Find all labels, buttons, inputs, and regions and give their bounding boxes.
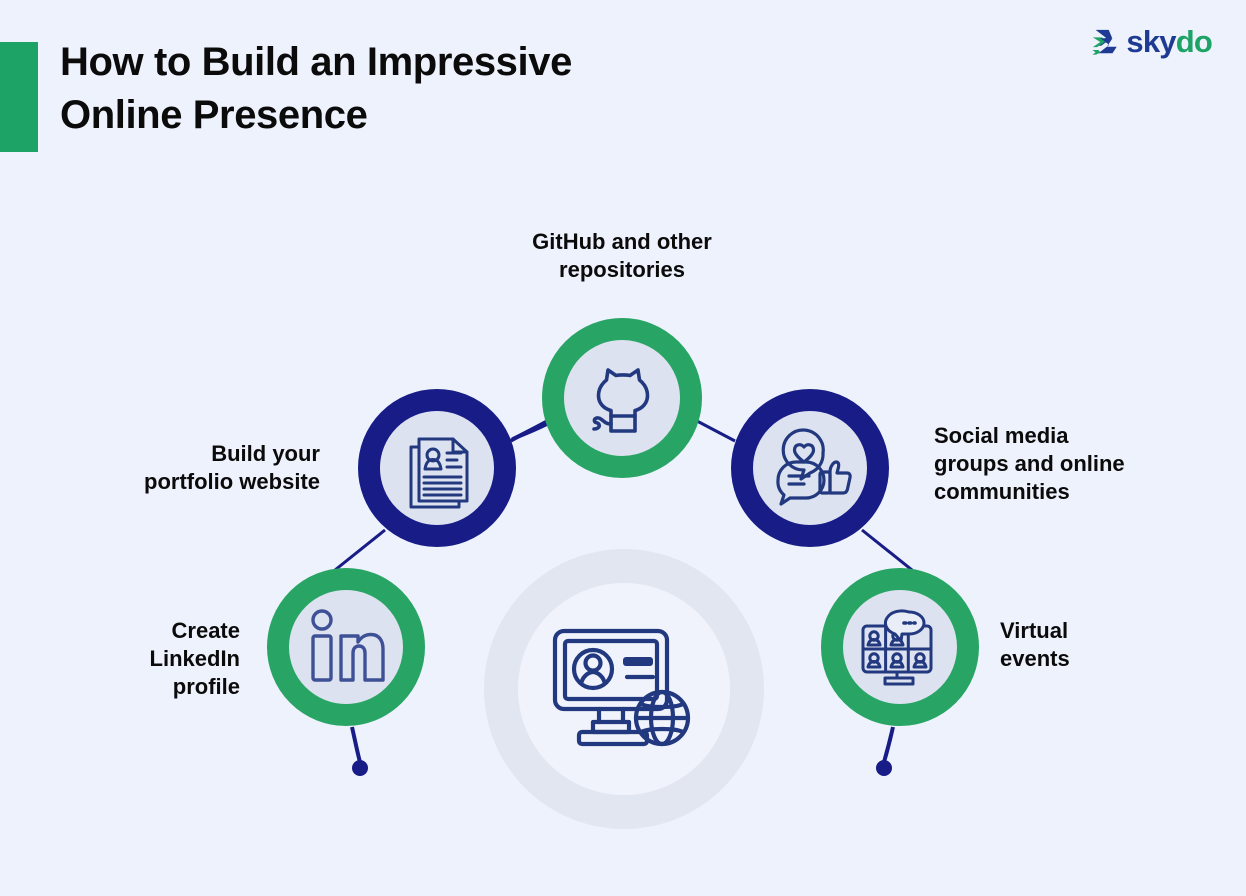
node-linkedin[interactable]: [267, 568, 425, 726]
label-virtual-events: Virtual events: [1000, 617, 1210, 673]
center-ring-inner: [518, 583, 730, 795]
connector-end-dot-right: [876, 760, 892, 776]
resume-document-icon: [397, 427, 477, 509]
video-conference-icon: [857, 607, 943, 687]
linkedin-in-icon: [305, 607, 387, 687]
github-octocat-icon: [581, 357, 663, 439]
center-ring: [484, 549, 764, 829]
label-github: GitHub and other repositories: [462, 228, 782, 284]
node-github[interactable]: [542, 318, 702, 478]
infographic-canvas: How to Build an Impressive Online Presen…: [0, 0, 1246, 896]
monitor-profile-globe-icon: [549, 625, 699, 753]
label-portfolio: Build your portfolio website: [30, 440, 320, 496]
label-linkedin: Create LinkedIn profile: [10, 617, 240, 701]
heart-chat-thumbsup-icon: [768, 428, 852, 508]
connector-end-dot-left: [352, 760, 368, 776]
node-social[interactable]: [731, 389, 889, 547]
node-virtual-events[interactable]: [821, 568, 979, 726]
node-portfolio[interactable]: [358, 389, 516, 547]
label-social: Social media groups and online communiti…: [934, 422, 1214, 506]
